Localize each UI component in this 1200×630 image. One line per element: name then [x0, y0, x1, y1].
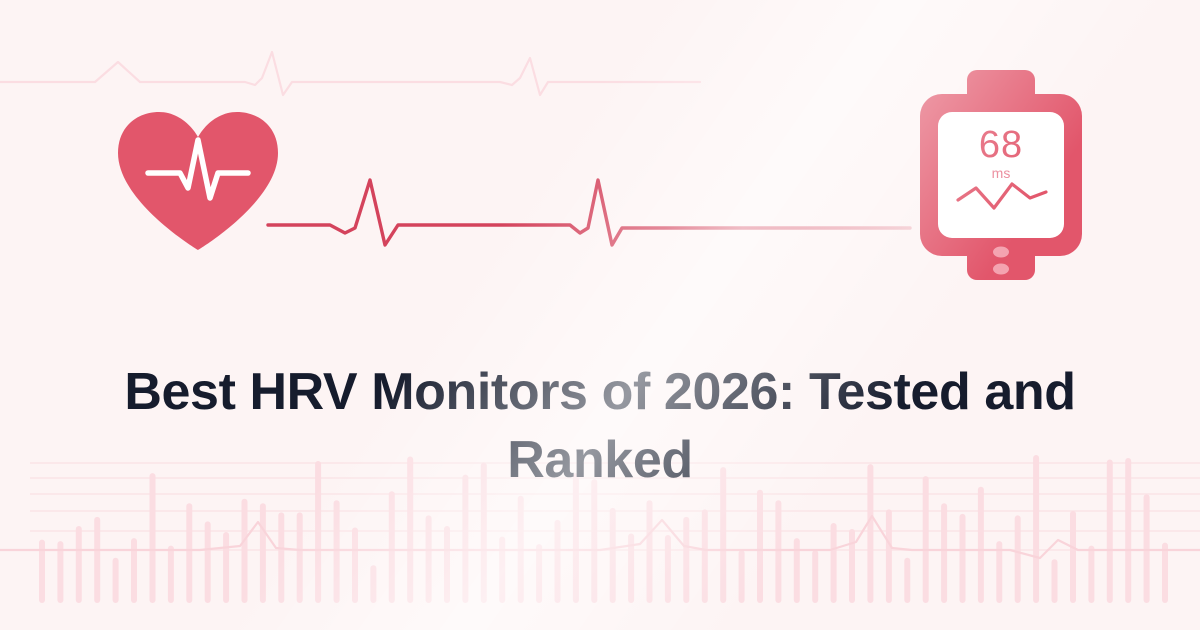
- chart-bar: [591, 479, 597, 603]
- chart-bar: [610, 508, 616, 603]
- chart-bar: [389, 491, 395, 603]
- chart-bar: [76, 526, 82, 603]
- chart-bar: [168, 546, 174, 603]
- chart-bar: [444, 526, 450, 603]
- chart-bar: [904, 558, 910, 603]
- chart-bar: [205, 521, 211, 603]
- chart-bar: [186, 503, 192, 603]
- chart-bar: [1125, 458, 1131, 603]
- chart-bar: [683, 517, 689, 603]
- chart-bar: [812, 550, 818, 603]
- chart-bar: [960, 514, 966, 603]
- chart-bar: [499, 537, 505, 603]
- chart-bar: [278, 512, 284, 603]
- chart-bar: [941, 503, 947, 603]
- chart-bar: [1162, 543, 1168, 603]
- chart-bar: [334, 500, 340, 603]
- chart-bar: [1107, 460, 1113, 604]
- chart-bar: [775, 500, 781, 603]
- chart-bar: [297, 512, 303, 603]
- chart-bar: [260, 503, 266, 603]
- chart-bar: [223, 532, 229, 603]
- chart-bar: [555, 520, 561, 603]
- chart-bar: [794, 538, 800, 603]
- page-title: Best HRV Monitors of 2026: Tested and Ra…: [100, 358, 1100, 494]
- chart-bar: [1070, 511, 1076, 603]
- hrv-bar-chart: [0, 0, 1200, 630]
- chart-bar: [1015, 515, 1021, 603]
- chart-bar: [1052, 559, 1058, 603]
- chart-bar: [665, 535, 671, 603]
- chart-bar: [702, 509, 708, 603]
- chart-bar: [94, 517, 100, 603]
- chart-bar: [647, 500, 653, 603]
- chart-bar: [1088, 546, 1094, 603]
- chart-bar: [739, 550, 745, 603]
- chart-bar: [370, 565, 376, 603]
- chart-bar: [426, 515, 432, 603]
- chart-bar: [831, 523, 837, 603]
- chart-bar: [978, 487, 984, 603]
- chart-bar: [352, 528, 358, 604]
- chart-bar: [131, 538, 137, 603]
- chart-bar: [1144, 494, 1150, 603]
- chart-bar: [923, 476, 929, 603]
- chart-bar: [849, 529, 855, 603]
- chart-bar: [886, 509, 892, 603]
- social-card: 68 ms Best HRV Monitors of 2026: Tested …: [0, 0, 1200, 630]
- chart-bar: [242, 499, 248, 603]
- chart-bar: [113, 558, 119, 603]
- chart-bar: [536, 544, 542, 603]
- chart-bar: [757, 490, 763, 603]
